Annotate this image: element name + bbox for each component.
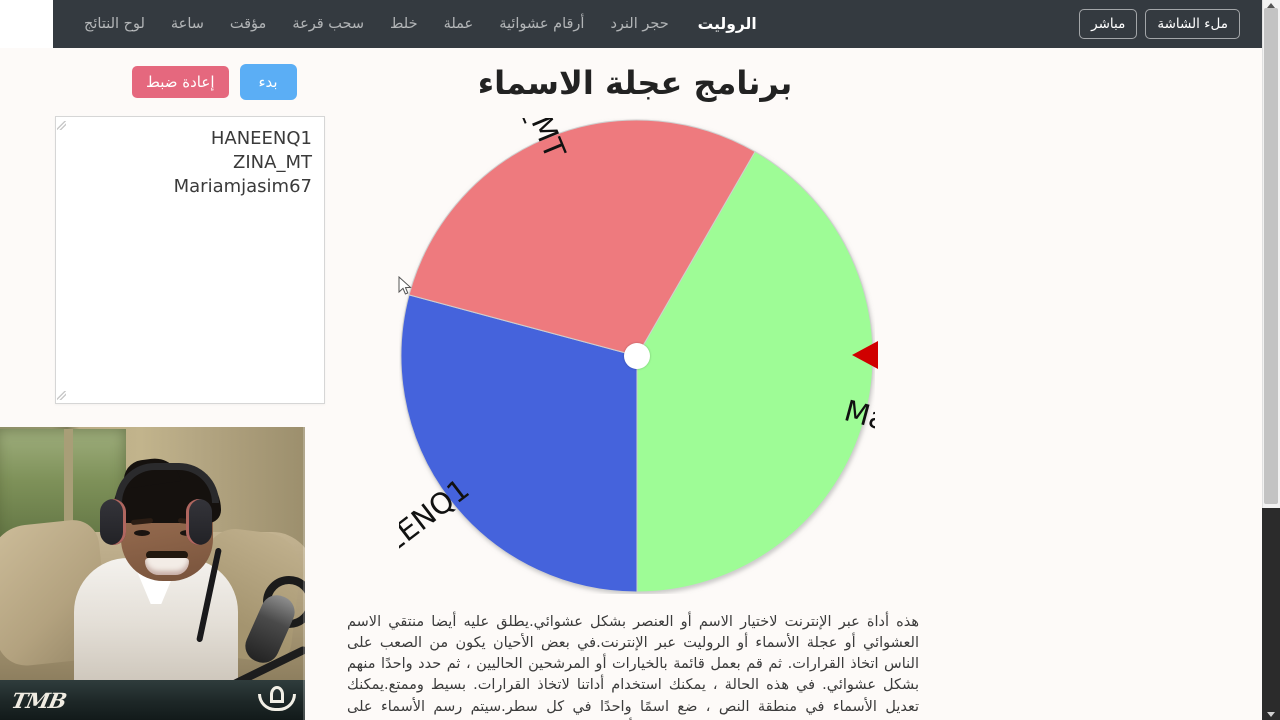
names-textarea[interactable] [55,116,325,404]
start-button[interactable]: بدء [240,64,297,100]
video-overlay[interactable]: TMB [0,427,305,720]
top-navbar: الروليت حجر النرد أرقام عشوائية عملة خلط… [53,0,1262,48]
page-title: برنامج عجلة الاسماء [350,64,920,102]
video-scene [0,427,305,720]
nav-links: الروليت حجر النرد أرقام عشوائية عملة خلط… [71,9,763,39]
name-wheel[interactable]: Mariamjasim67 HANEENQ1 ZINA_MT [399,118,875,594]
nav-item-scoreboard[interactable]: لوح النتائج [71,10,158,38]
scroll-up-arrow-icon[interactable] [1267,3,1275,8]
wheel-hub [624,343,650,369]
left-gutter [0,0,53,48]
wheel-label-haneenq1: HANEENQ1 [399,472,476,594]
app-page: الروليت حجر النرد أرقام عشوائية عملة خلط… [0,0,1280,720]
reset-button[interactable]: إعادة ضبط [132,66,229,98]
nav-item-dice[interactable]: حجر النرد [597,10,681,38]
nav-item-timer[interactable]: مؤقت [217,10,279,38]
wheel-pointer-icon [852,341,878,369]
video-right-edge [303,427,305,720]
nav-item-coin[interactable]: عملة [431,10,487,38]
nav-item-random-numbers[interactable]: أرقام عشوائية [486,10,597,38]
nav-item-shuffle[interactable]: خلط [377,10,431,38]
scrollbar-track-dark[interactable] [1262,508,1280,720]
video-headphone-cup-left [100,499,126,545]
live-button[interactable]: مباشر [1079,9,1137,39]
video-bottom-bar: TMB [0,680,305,720]
nav-item-clock[interactable]: ساعة [158,10,217,38]
nav-item-draw-lots[interactable]: سحب قرعة [279,10,377,38]
scroll-down-arrow-icon[interactable] [1267,712,1275,717]
nav-item-roulette[interactable]: الروليت [682,9,763,39]
video-watermark: TMB [9,688,68,713]
video-person-eye-left [134,530,150,536]
fullscreen-button[interactable]: ملء الشاشة [1145,9,1240,39]
description-text: هذه أداة عبر الإنترنت لاختيار الاسم أو ا… [347,612,919,720]
nav-buttons: ملء الشاشة مباشر [1079,9,1240,39]
video-person-mouth [145,558,189,575]
wheel-controls: بدء إعادة ضبط [132,64,297,100]
page-scrollbar[interactable] [1262,0,1280,720]
video-headphone-cup-right [186,499,212,545]
scrollbar-thumb[interactable] [1264,8,1278,504]
coffee-cup-logo-icon [255,685,293,715]
